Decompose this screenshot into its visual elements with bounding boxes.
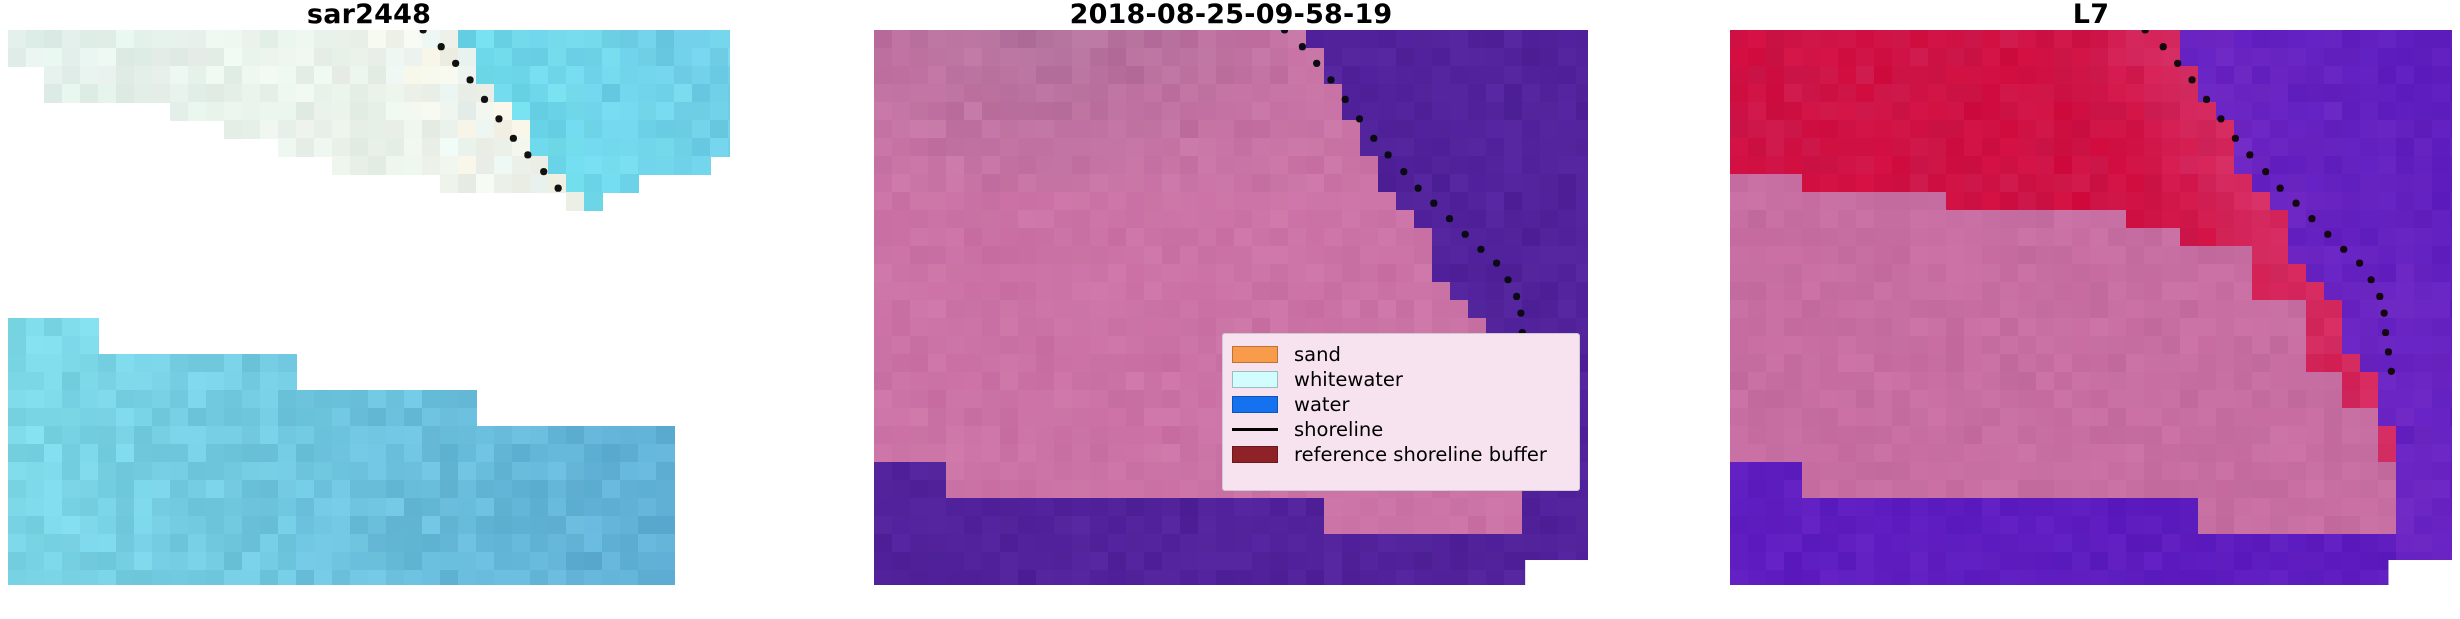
panel-title-l7: L7 [1730,0,2452,30]
raster-sar2448 [8,30,730,585]
legend-item-label: sand [1294,345,1341,365]
panel-title-sar2448: sar2448 [8,0,730,30]
color-swatch-icon [1232,446,1278,463]
panel-sar2448: sar2448 [8,0,730,619]
axes-date [874,30,1588,585]
legend-item-label: water [1294,395,1350,415]
figure-root: sar2448 2018-08-25-09-58-19 L7 sandwhite… [0,0,2460,619]
legend: sandwhitewaterwatershorelinereference sh… [1222,333,1580,491]
legend-item-whitewater: whitewater [1232,367,1569,392]
raster-classified [874,30,1588,585]
panel-l7: L7 [1730,0,2452,619]
color-swatch-icon [1232,346,1278,363]
color-swatch-icon [1232,371,1278,388]
legend-item-label: whitewater [1294,370,1403,390]
color-swatch-icon [1232,396,1278,413]
legend-item-water: water [1232,392,1569,417]
panel-title-date: 2018-08-25-09-58-19 [874,0,1588,30]
legend-item-sand: sand [1232,342,1569,367]
raster-l7 [1730,30,2452,585]
legend-item-reference-shoreline-buffer: reference shoreline buffer [1232,442,1569,467]
panel-2018-08-25-09-58-19: 2018-08-25-09-58-19 [874,0,1588,619]
legend-item-label: shoreline [1294,420,1383,440]
legend-item-label: reference shoreline buffer [1294,445,1547,465]
axes-sar2448 [8,30,730,585]
line-sample-icon [1232,421,1278,438]
axes-l7 [1730,30,2452,585]
legend-item-shoreline: shoreline [1232,417,1569,442]
